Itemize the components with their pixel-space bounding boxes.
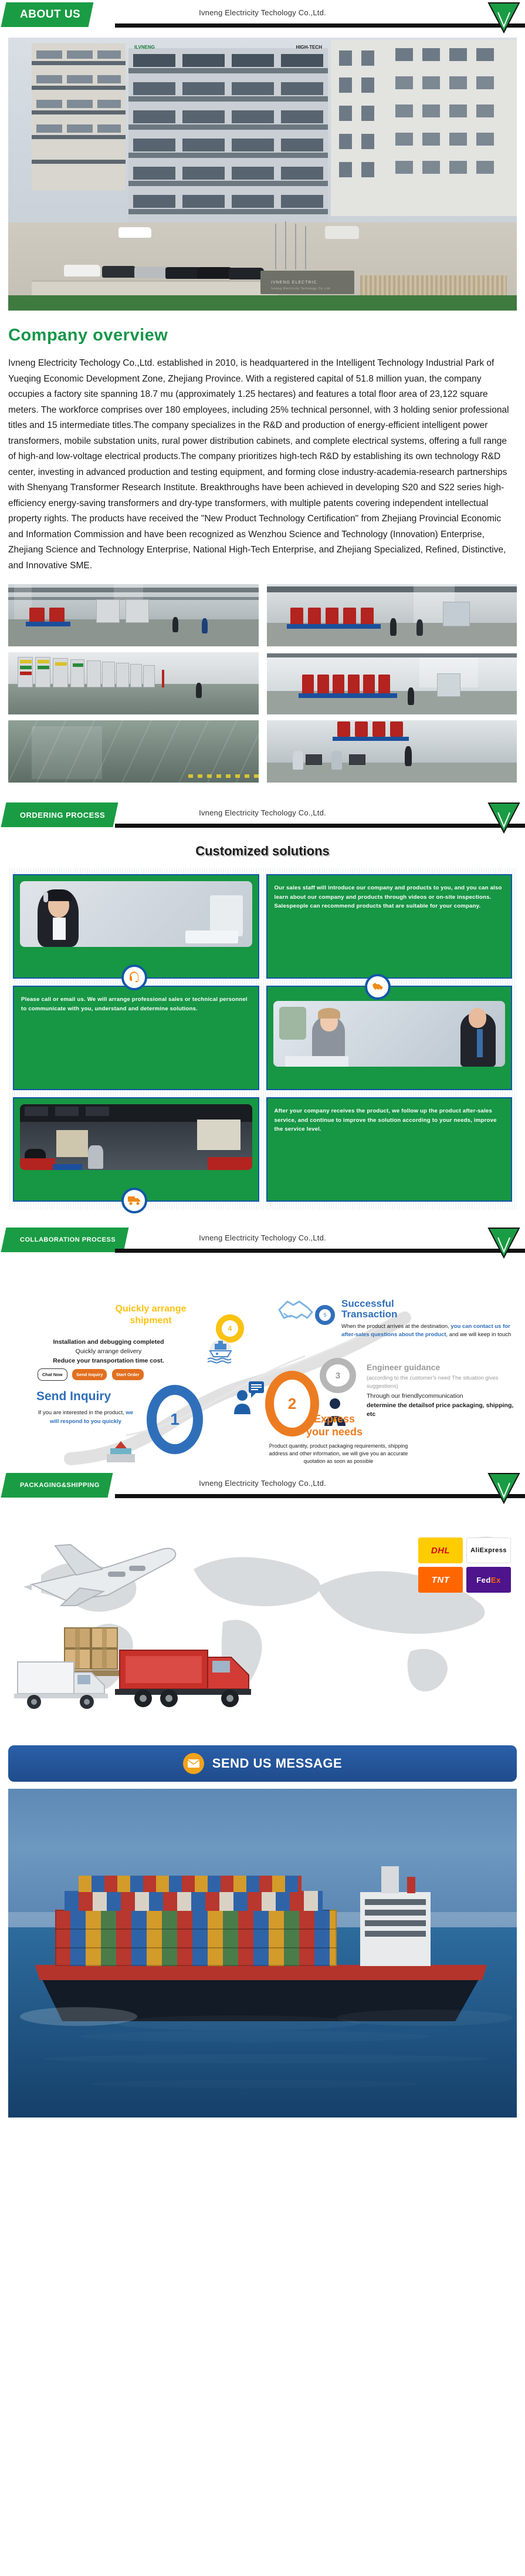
courier-logo-aliexpress: AliExpress (466, 1537, 511, 1563)
delivery-truck-icon (14, 1653, 126, 1717)
gallery-photo-coil-winding-station (267, 720, 517, 783)
customized-solutions-grid: Our sales staff will introduce our compa… (8, 868, 517, 1210)
container-ship-at-sea-photo (8, 1789, 517, 2118)
step-3-body-accent: Through our friendlycommunication (367, 1392, 525, 1400)
step-2-title-line1: Express (276, 1413, 393, 1425)
process-path (0, 1259, 525, 1471)
step-3-title: Engineer guidance (367, 1363, 440, 1372)
section-rule (115, 1494, 525, 1498)
solution-card-intro-text: Our sales staff will introduce our compa… (275, 884, 504, 911)
send-inquiry-button[interactable]: Send Inquiry (72, 1369, 107, 1380)
gallery-photo-distribution-cabinet-row (8, 652, 259, 714)
step-4-body-plain-1: Installation and debugging completed (12, 1338, 205, 1346)
section-rule (115, 23, 525, 28)
step-marker-5: 5 (315, 1305, 335, 1325)
step-1-body-plain: If you are interested in the product, (38, 1410, 126, 1416)
warehouse-loading-photo (20, 1104, 252, 1170)
gallery-photo-assembly-line-transformers (267, 584, 517, 646)
step-4-number: 4 (228, 1324, 232, 1333)
send-us-message-label: SEND US MESSAGE (212, 1756, 342, 1771)
step-1-chip-row: Chat Now Send Inquiry Start Order (38, 1368, 146, 1381)
chevron-down-icon (487, 802, 520, 834)
solution-card-aftersales-text: After your company receives the product,… (275, 1107, 504, 1134)
step-5-body-plain-2: , and we will keep in touch (446, 1331, 511, 1338)
solution-card-delivery[interactable] (13, 1097, 259, 1202)
section-header-ordering: ORDERING PROCESS Ivneng Electricity Tech… (0, 800, 525, 834)
sales-agent-headset-photo (20, 881, 252, 947)
business-meeting-photo (273, 1001, 506, 1067)
section-header-packaging: PACKAGING&SHIPPING Ivneng Electricity Te… (0, 1471, 525, 1505)
step-1-number: 1 (170, 1410, 179, 1429)
step-3-number: 3 (336, 1371, 340, 1381)
courier-logo-dhl: DHL (418, 1537, 463, 1563)
handshake-icon (365, 974, 391, 1000)
product-detail-page: ABOUT US Ivneng Electricity Techology Co… (0, 0, 525, 2118)
solution-card-contact-text: Please call or email us. We will arrange… (21, 995, 251, 1013)
cargo-plane-icon (20, 1528, 196, 1616)
handshake-outline-icon (276, 1294, 317, 1327)
step-3-body-grey: (according to the customer's need The si… (367, 1374, 519, 1391)
factory-aerial-photo: ILVNENG HIGH-TECH (8, 38, 517, 311)
section-company-name-collaboration: Ivneng Electricity Techology Co.,Ltd. (0, 1233, 525, 1242)
fedex-label-a: Fed (476, 1576, 491, 1584)
step-5-number: 5 (323, 1312, 326, 1318)
courier-logo-grid: DHL AliExpress TNT FedEx (418, 1537, 511, 1593)
section-header-collaboration: COLLABORATION PROCESS Ivneng Electricity… (0, 1225, 525, 1259)
step-5-body-plain-1: When the product arrives at the destinat… (341, 1323, 449, 1330)
section-company-name-ordering: Ivneng Electricity Techology Co.,Ltd. (0, 808, 525, 817)
step-2-body: Product quantity, product packaging requ… (265, 1442, 412, 1465)
section-rule (115, 824, 525, 828)
chat-bubble-icon (103, 1440, 138, 1467)
collaboration-process-diagram: 5 Successful Transaction When the produc… (0, 1259, 525, 1471)
ship-icon (204, 1339, 237, 1365)
step-5-title-line2: Transaction (341, 1309, 397, 1320)
solution-card-aftersales[interactable]: After your company receives the product,… (266, 1097, 513, 1202)
chevron-down-icon (487, 1472, 520, 1504)
chevron-down-icon (487, 2, 520, 33)
courier-logo-fedex: FedEx (466, 1567, 511, 1593)
delivery-truck-icon (115, 1642, 267, 1718)
packaging-shipping-block: DHL AliExpress TNT FedEx (0, 1505, 525, 1739)
fedex-label-b: Ex (491, 1576, 501, 1584)
step-marker-1: 1 (147, 1385, 203, 1454)
step-4-body-accent: Quickly arrange delivery (12, 1347, 205, 1356)
company-overview-title: Company overview (8, 326, 525, 345)
person-message-icon (233, 1380, 265, 1415)
send-us-message-button[interactable]: SEND US MESSAGE (8, 1745, 517, 1782)
gallery-photo-workshop-overhead-crane (8, 584, 259, 646)
courier-logo-tnt: TNT (418, 1567, 463, 1593)
customized-solutions-title: Customized solutions (0, 844, 525, 859)
step-2-number: 2 (288, 1395, 296, 1413)
section-rule (115, 1249, 525, 1253)
facility-photo-grid (8, 584, 517, 783)
step-4-body-plain-2: Reduce your transportation time cost. (12, 1357, 205, 1365)
section-company-name-packaging: Ivneng Electricity Techology Co.,Ltd. (0, 1479, 525, 1488)
step-5-title-line1: Successful (341, 1298, 394, 1310)
step-2-title-line2: your needs (276, 1426, 393, 1438)
headset-icon (121, 965, 147, 990)
chevron-down-icon (487, 1227, 520, 1259)
customized-solutions-block: Customized solutions (0, 834, 525, 1216)
solution-card-intro[interactable]: Our sales staff will introduce our compa… (266, 874, 513, 979)
section-company-name-about: Ivneng Electricity Techology Co.,Ltd. (0, 8, 525, 17)
chat-now-button[interactable]: Chat Now (38, 1368, 67, 1381)
gallery-photo-dry-type-transformer-line (267, 652, 517, 714)
start-order-button[interactable]: Start Order (112, 1369, 144, 1380)
step-4-title-line1: Quickly arrange (89, 1304, 212, 1314)
solution-card-consult[interactable] (13, 874, 259, 979)
step-4-title-line2: shipment (89, 1316, 212, 1326)
company-overview-paragraph: Ivneng Electricity Techology Co.,Ltd. es… (8, 356, 516, 574)
section-header-about: ABOUT US Ivneng Electricity Techology Co… (0, 0, 525, 34)
solution-card-contact[interactable]: Please call or email us. We will arrange… (13, 986, 259, 1090)
step-marker-3: 3 (320, 1358, 356, 1393)
envelope-icon (183, 1753, 204, 1774)
step-marker-4: 4 (216, 1314, 244, 1343)
step-1-title: Send Inquiry (36, 1390, 111, 1404)
solution-card-handshake[interactable] (266, 986, 513, 1090)
gallery-photo-finished-floor-area (8, 720, 259, 783)
truck-icon (121, 1188, 147, 1213)
